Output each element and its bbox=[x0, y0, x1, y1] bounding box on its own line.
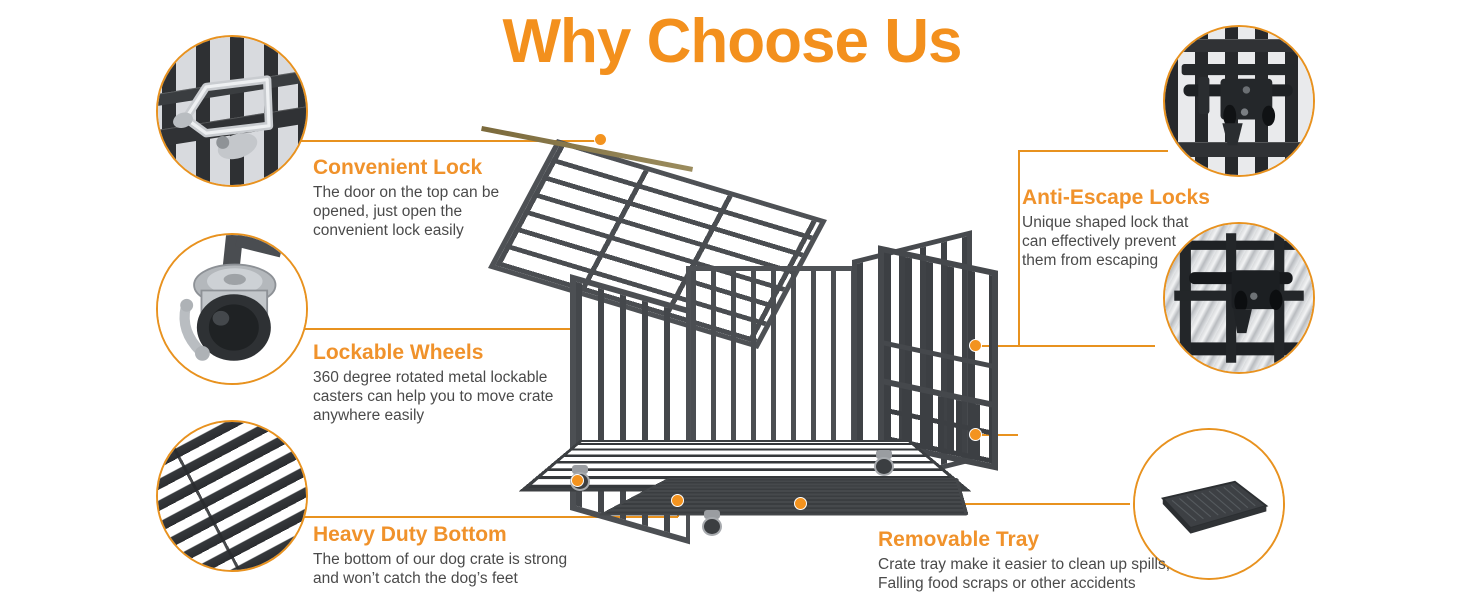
feature-removable-tray: Removable Tray Crate tray make it easier… bbox=[878, 527, 1170, 594]
dot-top-lid[interactable] bbox=[594, 133, 607, 146]
feature-title: Heavy Duty Bottom bbox=[313, 522, 567, 548]
feature-title: Removable Tray bbox=[878, 527, 1170, 553]
feature-title: Lockable Wheels bbox=[313, 340, 553, 366]
feature-description: Unique shaped lock that can effectively … bbox=[1022, 214, 1210, 271]
dot-caster[interactable] bbox=[571, 474, 584, 487]
feature-description: Crate tray make it easier to clean up sp… bbox=[878, 556, 1170, 594]
lockable-wheels-photo bbox=[156, 233, 308, 385]
feature-description: 360 degree rotated metal lockable caster… bbox=[313, 369, 553, 426]
feature-anti-escape-locks: Anti-Escape Locks Unique shaped lock tha… bbox=[1022, 185, 1210, 271]
feature-lockable-wheels: Lockable Wheels 360 degree rotated metal… bbox=[313, 340, 553, 426]
anti-escape-locks-photo bbox=[1163, 25, 1315, 177]
convenient-lock-photo bbox=[156, 35, 308, 187]
infographic-canvas: Why Choose Us bbox=[0, 0, 1464, 600]
dot-tray[interactable] bbox=[794, 497, 807, 510]
latch-bar-icon bbox=[158, 37, 306, 185]
feature-description: The bottom of our dog crate is strong an… bbox=[313, 551, 567, 589]
leader-line-antiescape-top bbox=[1018, 150, 1168, 152]
caster-wheel bbox=[702, 510, 722, 536]
feature-title: Convenient Lock bbox=[313, 155, 499, 181]
feature-heavy-duty-bottom: Heavy Duty Bottom The bottom of our dog … bbox=[313, 522, 567, 589]
caster-wheel-icon bbox=[158, 235, 306, 383]
dot-upper-lock[interactable] bbox=[969, 339, 982, 352]
feature-title: Anti-Escape Locks bbox=[1022, 185, 1210, 211]
slide-bolt-lock-icon bbox=[1165, 27, 1313, 175]
feature-description: The door on the top can be opened, just … bbox=[313, 184, 499, 241]
dot-lower-lock[interactable] bbox=[969, 428, 982, 441]
caster-wheel bbox=[874, 450, 894, 476]
heavy-duty-dog-crate bbox=[470, 110, 1030, 580]
dot-floor-grid[interactable] bbox=[671, 494, 684, 507]
heavy-duty-bottom-photo bbox=[156, 420, 308, 572]
feature-convenient-lock: Convenient Lock The door on the top can … bbox=[313, 155, 499, 241]
